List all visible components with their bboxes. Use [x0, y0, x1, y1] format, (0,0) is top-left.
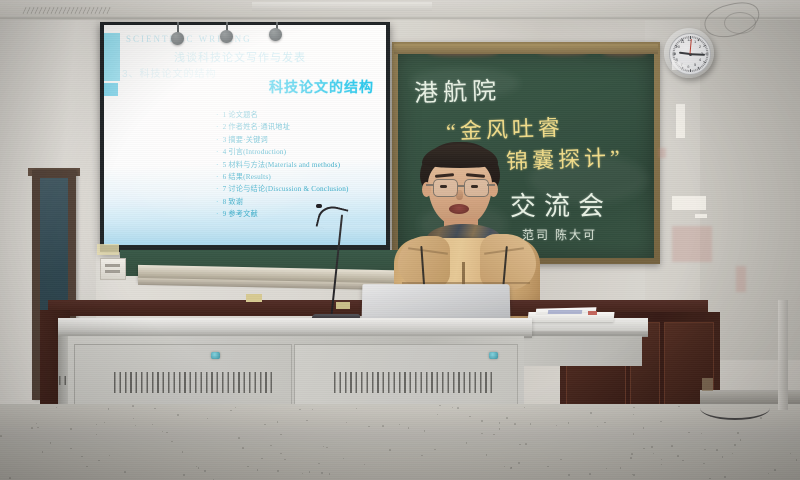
floor-speck	[182, 451, 184, 453]
floor-speck	[724, 476, 726, 478]
floor-speck	[109, 455, 111, 457]
floor-speck	[737, 432, 739, 434]
floor-speck	[421, 455, 423, 457]
floor-speck	[329, 473, 331, 475]
floor-speck	[671, 445, 673, 447]
floor-speck	[104, 422, 106, 424]
floor-speck	[70, 448, 72, 450]
lectern-lock-left[interactable]	[211, 352, 220, 359]
floor-speck	[312, 409, 314, 411]
hanging-wire-loop-icon	[724, 12, 756, 34]
laptop-lid[interactable]	[362, 284, 511, 322]
bullet-marker-icon: ·	[216, 123, 219, 131]
floor-speck	[133, 418, 135, 420]
floor-speck	[166, 432, 168, 434]
floor-speck	[31, 427, 33, 429]
floor-speck	[660, 421, 662, 423]
floor-speck	[183, 474, 185, 476]
floor-speck	[560, 459, 562, 461]
presenter-glasses-left-lens	[433, 179, 458, 197]
floor-speck	[207, 418, 209, 420]
blackboard-top-rail	[394, 44, 658, 54]
floor-speck	[530, 423, 532, 425]
floor-speck	[630, 457, 632, 459]
lectern-vent-right	[334, 372, 494, 393]
floor-speck	[525, 443, 527, 445]
floor-speck	[486, 454, 488, 456]
slide-bullet-item: ·5 材料与方法(Materials and methods)	[216, 159, 386, 171]
floor-speck	[506, 417, 508, 419]
floor-speck	[734, 444, 736, 446]
floor-speck	[364, 464, 366, 466]
slide-bullet-text: 1 论文题名	[223, 111, 258, 119]
lectern-side-vent	[59, 376, 67, 385]
floor-speck	[247, 466, 249, 468]
floor-speck	[124, 471, 126, 473]
slide-bullet-item: ·1 论文题名	[216, 109, 386, 121]
slide-bullet-item: ·8 致谢	[216, 196, 386, 208]
slide-accent-square	[104, 83, 118, 96]
slide-bullet-item: ·6 结果(Results)	[216, 171, 386, 183]
wall-note-paper	[695, 214, 707, 218]
clock-hand-m	[690, 53, 705, 55]
floor-speck	[633, 407, 635, 409]
slide-left-accent-bar	[104, 33, 120, 81]
floor-speck	[382, 425, 384, 427]
floor-speck	[280, 434, 282, 436]
floor-speck	[235, 407, 237, 409]
floor-speck	[389, 449, 391, 451]
floor-speck	[606, 468, 608, 470]
wall-smudge	[658, 148, 666, 158]
slide-bullet-item: ·9 参考文献	[216, 208, 386, 220]
floor-speck	[703, 463, 705, 465]
floor-speck	[790, 453, 792, 455]
floor-speck	[661, 459, 663, 461]
floor-speck	[547, 466, 549, 468]
floor-speck	[81, 456, 83, 458]
slide-bullet-item: ·2 作者姓名·通讯地址	[216, 121, 386, 133]
clock-tick	[693, 70, 694, 72]
wall-smudge	[736, 266, 746, 292]
floor-speck	[108, 408, 110, 410]
floor-speck	[198, 467, 200, 469]
floor-speck	[434, 449, 436, 451]
blackboard-line-1: 港航院	[413, 70, 501, 108]
floor-speck	[86, 466, 88, 468]
slide-bullet-text: 9 参考文献	[223, 210, 258, 218]
floor-speck	[677, 455, 679, 457]
screen-clip-knob	[220, 30, 233, 43]
floor-speck	[96, 434, 98, 436]
floor-speck	[302, 473, 304, 475]
ceiling-light-strip	[252, 2, 432, 11]
floor-speck	[37, 427, 39, 429]
clock-hand-h	[679, 52, 690, 55]
lecture-hall-photo: 港航院 “金风吐睿 锦囊探计” 交流会 范司 陈大可 1212345678910…	[0, 0, 800, 480]
presenter-eye-right	[471, 185, 478, 188]
presenter-glasses-arm-right	[487, 184, 495, 186]
blackboard-line-2: “金风吐睿	[445, 110, 564, 146]
clock-numeral: 2	[699, 44, 701, 49]
floor-speck	[132, 405, 134, 407]
microphone-head-icon	[316, 204, 322, 208]
floor-speck	[678, 406, 680, 408]
floor-speck	[631, 453, 633, 455]
floor-speck	[633, 414, 635, 416]
presenter-nose	[456, 190, 463, 200]
floor-speck	[633, 433, 635, 435]
clock-numeral: 9	[674, 51, 676, 56]
floor-speck	[643, 427, 645, 429]
floor-speck	[457, 407, 459, 409]
floor-speck	[152, 424, 154, 426]
floor	[0, 404, 800, 480]
floor-speck	[135, 425, 137, 427]
floor-speck	[796, 459, 798, 461]
floor-speck	[760, 417, 762, 419]
floor-speck	[466, 442, 468, 444]
floor-speck	[682, 460, 684, 462]
bullet-marker-icon: ·	[216, 210, 219, 218]
wall-socket-plate	[100, 258, 126, 280]
presenter-fringe	[422, 144, 498, 168]
clock-numeral: 5	[694, 62, 696, 67]
floor-speck	[70, 428, 72, 430]
floor-speck	[688, 432, 690, 434]
floor-speck	[597, 426, 599, 428]
presenter-glasses-arm-left	[426, 184, 434, 186]
floor-speck	[318, 463, 320, 465]
floor-speck	[261, 458, 263, 460]
slide-bullet-text: 3 摘要·关键词	[223, 136, 268, 144]
floor-speck	[604, 422, 606, 424]
power-cable	[700, 396, 770, 420]
floor-speck	[36, 423, 38, 425]
clock-tick	[688, 70, 689, 72]
floor-speck	[171, 441, 173, 443]
screen-clip-knob	[269, 28, 282, 41]
floor-speck	[701, 433, 703, 435]
lectern-lock-right[interactable]	[489, 352, 498, 359]
wall-tape-note	[97, 244, 119, 255]
floor-speck	[481, 420, 483, 422]
floor-speck	[424, 430, 426, 432]
slide-title-chinese: 浅谈科技论文写作与发表	[174, 49, 306, 65]
slide-section-heading: 科技论文的结构	[269, 77, 374, 97]
clock-numeral: 4	[699, 57, 701, 62]
floor-speck	[284, 459, 286, 461]
floor-speck	[356, 408, 358, 410]
floor-speck	[452, 407, 454, 409]
floor-speck	[499, 422, 501, 424]
slide-bullet-text: 6 结果(Results)	[223, 173, 271, 181]
floor-speck	[346, 422, 348, 424]
floor-speck	[774, 469, 776, 471]
floor-speck	[368, 426, 370, 428]
floor-speck	[277, 421, 279, 423]
floor-speck	[518, 462, 520, 464]
floor-speck	[651, 446, 653, 448]
floor-speck	[768, 473, 770, 475]
floor-speck	[632, 474, 634, 476]
floor-speck	[510, 467, 512, 469]
slide-bullet-item: ·3 摘要·关键词	[216, 134, 386, 146]
floor-speck	[722, 456, 724, 458]
clock-hand-s	[690, 39, 692, 54]
floor-speck	[326, 447, 328, 449]
floor-speck	[321, 472, 323, 474]
ceiling-seam	[0, 17, 800, 19]
floor-speck	[162, 431, 164, 433]
floor-speck	[493, 434, 495, 436]
floor-speck	[633, 474, 635, 476]
floor-speck	[709, 478, 711, 480]
presenter-eye-left	[440, 185, 447, 188]
floor-speck	[620, 467, 622, 469]
floor-speck	[50, 442, 52, 444]
floor-speck	[277, 470, 279, 472]
floor-speck	[437, 414, 439, 416]
floor-speck	[299, 409, 301, 411]
floor-speck	[732, 453, 734, 455]
floor-speck	[98, 460, 100, 462]
floor-speck	[56, 407, 58, 409]
floor-speck	[568, 474, 570, 476]
presenter-glasses-right-lens	[464, 179, 489, 197]
floor-speck	[96, 424, 98, 426]
floor-speck	[230, 410, 232, 412]
presenter-mouth	[449, 204, 469, 214]
floor-speck	[524, 407, 526, 409]
floor-speck	[0, 435, 2, 437]
floor-speck	[309, 471, 311, 473]
floor-speck	[740, 439, 742, 441]
floor-speck	[9, 477, 11, 479]
slide-bullet-item: ·7 讨论与结论(Discussion & Conclusion)	[216, 183, 386, 195]
bullet-marker-icon: ·	[216, 161, 219, 169]
lectern-vent-left	[114, 372, 274, 393]
slide-bullet-text: 5 材料与方法(Materials and methods)	[223, 161, 341, 169]
clock-tick	[697, 69, 699, 71]
right-door-jamb	[778, 300, 788, 410]
clock-numeral: 10	[676, 44, 680, 49]
bullet-marker-icon: ·	[216, 111, 219, 119]
floor-speck	[469, 416, 471, 418]
floor-speck	[323, 446, 325, 448]
bullet-marker-icon: ·	[216, 173, 219, 181]
screen-clip-knob	[171, 32, 184, 45]
ceiling-vent-grille	[22, 7, 111, 14]
floor-speck	[504, 466, 506, 468]
floor-speck	[514, 423, 516, 425]
clock-numeral: 11	[680, 39, 684, 44]
clock-tick	[692, 70, 693, 72]
slide-bullet-text: 7 讨论与结论(Discussion & Conclusion)	[223, 185, 349, 193]
floor-speck	[704, 449, 706, 451]
floor-speck	[399, 424, 401, 426]
floor-speck	[481, 433, 483, 435]
presenter-glasses-bridge	[457, 185, 464, 187]
floor-wall-socket[interactable]	[702, 378, 713, 391]
floor-speck	[343, 458, 345, 460]
floor-speck	[238, 437, 240, 439]
floor-speck	[499, 428, 501, 430]
slide-bullet-text: 4 引言(Introduction)	[223, 148, 287, 156]
floor-speck	[177, 414, 179, 416]
floor-speck	[439, 405, 441, 407]
wall-smudge	[672, 226, 712, 262]
floor-speck	[643, 448, 645, 450]
floor-speck	[42, 451, 44, 453]
bullet-marker-icon: ·	[216, 185, 219, 193]
floor-speck	[556, 425, 558, 427]
floor-speck	[270, 445, 272, 447]
floor-speck	[589, 473, 591, 475]
slide-subtitle: 3、科技论文的结构	[122, 65, 217, 80]
slide-bullet-text: 2 作者姓名·通讯地址	[223, 123, 291, 131]
bullet-marker-icon: ·	[216, 136, 219, 144]
floor-speck	[716, 449, 718, 451]
floor-speck	[568, 422, 570, 424]
floor-speck	[306, 420, 308, 422]
floor-speck	[661, 464, 663, 466]
floor-speck	[590, 412, 592, 414]
slide-bullet-text: 8 致谢	[223, 198, 244, 206]
desk-small-object	[246, 294, 262, 302]
floor-speck	[264, 424, 266, 426]
desk-paper-red-mark	[588, 311, 597, 315]
desk-small-object	[336, 302, 350, 309]
floor-speck	[154, 408, 156, 410]
wall-note-paper	[672, 196, 706, 210]
floor-speck	[280, 453, 282, 455]
floor-speck	[653, 453, 655, 455]
floor-speck	[408, 427, 410, 429]
bullet-marker-icon: ·	[216, 198, 219, 206]
floor-speck	[257, 469, 259, 471]
slide-bullet-item: ·4 引言(Introduction)	[216, 146, 386, 158]
desk-paper-blue-strip	[548, 310, 583, 314]
clock-numeral: 1	[694, 39, 696, 44]
floor-speck	[204, 470, 206, 472]
bullet-marker-icon: ·	[216, 148, 219, 156]
floor-speck	[242, 447, 244, 449]
wall-note-paper	[676, 104, 685, 138]
floor-speck	[519, 444, 521, 446]
slide-bullet-list: ·1 论文题名·2 作者姓名·通讯地址·3 摘要·关键词·4 引言(Introd…	[216, 109, 386, 221]
